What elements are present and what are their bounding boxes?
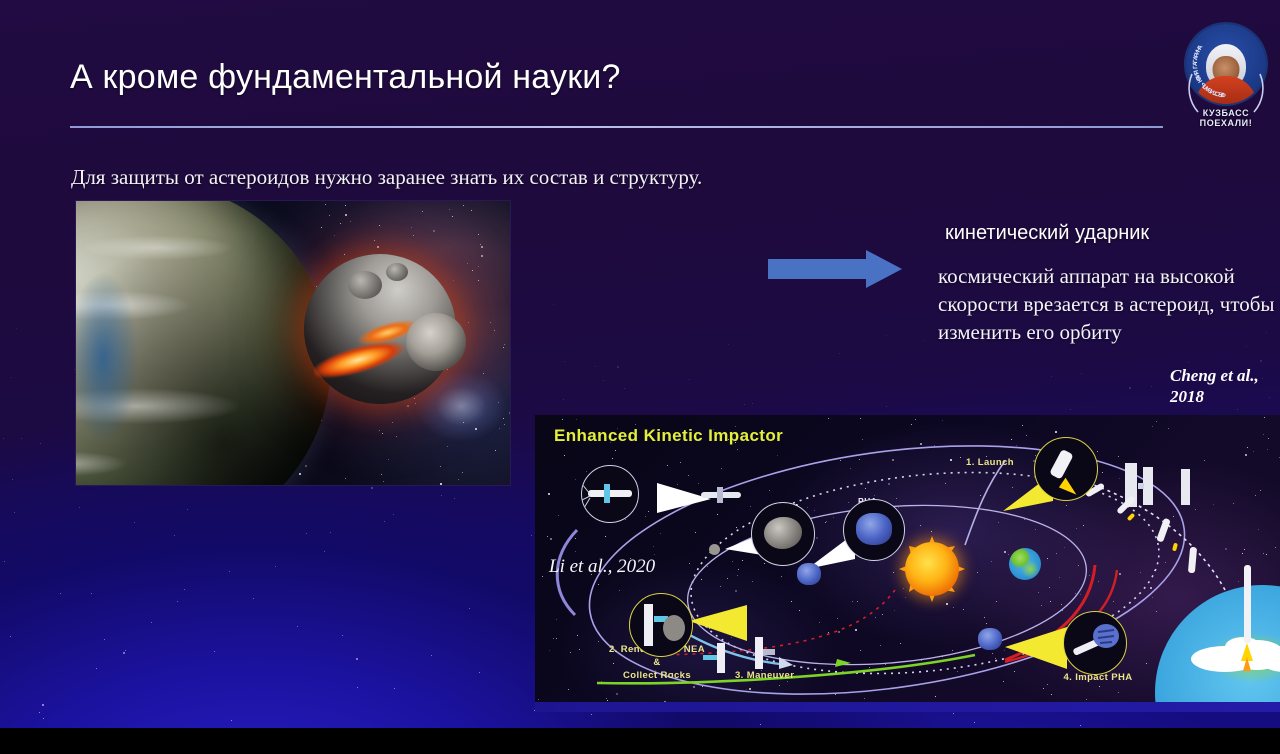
presentation-slide: ФЕСТИВАЛЬ ЮРИЯ ГАГАРИНА КУЗБАСС ПОЕХАЛИ!… (0, 0, 1280, 754)
citation-cheng: Cheng et al., 2018 (1170, 365, 1280, 407)
kinetic-impactor-description: космический аппарат на высокой скорости … (938, 262, 1278, 346)
figure-bottom-rule (535, 702, 1280, 712)
sun-icon (905, 542, 959, 596)
pha-asteroid-icon (856, 513, 892, 545)
spacecraft-rock-icon (630, 594, 692, 656)
spacecraft-icon (582, 466, 638, 522)
logo-wordmark: КУЗБАСС ПОЕХАЛИ! (1176, 108, 1276, 128)
callout-launch (1034, 437, 1098, 501)
callout-nea (751, 502, 815, 566)
blue-arrow-icon (768, 250, 902, 288)
figure-label-maneuver: 3. Maneuver (735, 670, 845, 681)
figure-citation: Li et al., 2020 (549, 555, 655, 579)
spacecraft-maneuver-body-icon (699, 641, 745, 675)
photo-moonlet (406, 313, 466, 371)
spacecraft-small-icon (699, 483, 743, 507)
earth-asteroid-photo (76, 201, 510, 485)
photo-asteroid-crater (386, 263, 408, 281)
callout-pha (843, 499, 905, 561)
figure-title: Enhanced Kinetic Impactor (554, 426, 783, 446)
enhanced-kinetic-impactor-figure: Enhanced Kinetic Impactor Li et al., 202… (535, 415, 1280, 712)
bottom-black-bar (0, 728, 1280, 754)
callout-rendezvous (629, 593, 693, 657)
asteroid-icon (764, 517, 802, 549)
callout-impact (1063, 611, 1127, 675)
rocket-stage-icons (1075, 457, 1255, 587)
subtitle-text: Для защиты от астероидов нужно заранее з… (71, 165, 702, 190)
nea-object (709, 544, 720, 555)
kinetic-impactor-label: кинетический ударник (945, 222, 1149, 245)
photo-asteroid-crater (348, 271, 382, 299)
earth-small-icon (1009, 548, 1041, 580)
impact-icon (1064, 612, 1126, 674)
callout-spacecraft (581, 465, 639, 523)
pha-object (797, 563, 821, 585)
title-divider (70, 126, 1163, 128)
pha-impact-target (978, 628, 1002, 650)
rocket-icon (1035, 438, 1097, 500)
logo-wordmark-line2: ПОЕХАЛИ! (1176, 118, 1276, 128)
festival-logo: ФЕСТИВАЛЬ ЮРИЯ ГАГАРИНА КУЗБАСС ПОЕХАЛИ! (1176, 22, 1276, 132)
page-title: А кроме фундаментальной науки? (70, 58, 621, 97)
logo-wordmark-line1: КУЗБАСС (1176, 108, 1276, 118)
logo-side-arcs (1176, 22, 1276, 122)
